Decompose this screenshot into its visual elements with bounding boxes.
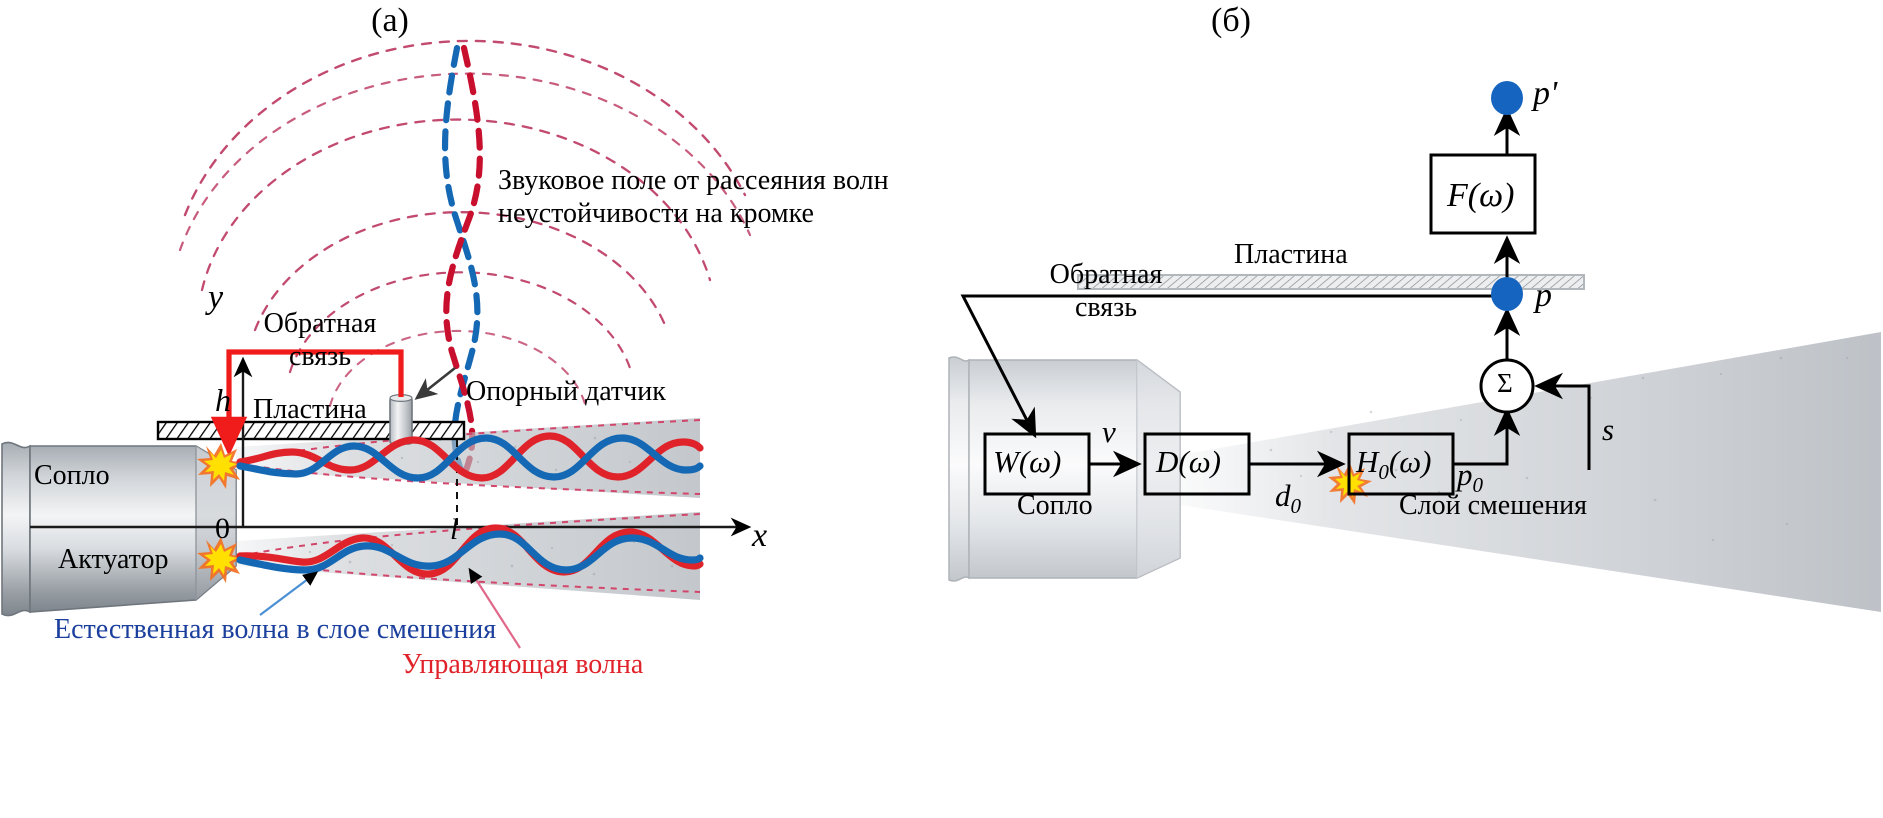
panel-b-graphics — [941, 0, 1883, 818]
node-p — [1491, 277, 1523, 311]
reference-sensor-pointer — [417, 368, 455, 398]
control-wave-legend: Управляющая волна — [402, 648, 643, 681]
s-label: s — [1602, 412, 1614, 449]
feedback-label-a: Обратная связь — [255, 307, 385, 373]
sound-field-label: Звуковое поле от рассеяния волн неустойч… — [498, 164, 928, 230]
panel-b: (б) — [941, 0, 1883, 818]
origin-label: 0 — [215, 511, 230, 546]
reference-sensor-label: Опорный датчик — [466, 375, 666, 408]
panel-a: (а) — [0, 0, 941, 818]
p-prime-label: p' — [1533, 74, 1557, 114]
feedback-label-b: Обратная связь — [1039, 258, 1173, 324]
node-p-prime — [1491, 81, 1523, 115]
actuator-label-a: Актуатор — [58, 543, 169, 576]
block-D-label: D(ω) — [1156, 444, 1221, 481]
reference-sensor — [390, 395, 412, 444]
natural-wave-legend: Естественная волна в слое смешения — [54, 613, 496, 646]
mixing-layer-label-b: Слой смешения — [1399, 489, 1587, 522]
block-H0-label: H0(ω) — [1356, 444, 1431, 485]
nozzle-label-b: Сопло — [1017, 489, 1093, 522]
block-F-label: F(ω) — [1447, 176, 1514, 216]
plate-label-a: Пластина — [253, 393, 367, 426]
block-W-label: W(ω) — [993, 444, 1061, 481]
height-label-h: h — [215, 382, 231, 420]
nozzle-label-a: Сопло — [34, 459, 110, 492]
axis-y-label: y — [208, 278, 223, 318]
natural-wave-pointer — [260, 573, 316, 615]
axis-x-label: x — [752, 516, 767, 556]
plate-label-b: Пластина — [1234, 238, 1348, 271]
p-label: p — [1535, 276, 1552, 316]
length-label-l: l — [450, 512, 458, 547]
nu-label: ν — [1102, 414, 1116, 451]
d0-label: d0 — [1275, 478, 1301, 519]
sigma-label: Σ — [1497, 368, 1513, 400]
panel-a-graphics — [0, 0, 941, 818]
